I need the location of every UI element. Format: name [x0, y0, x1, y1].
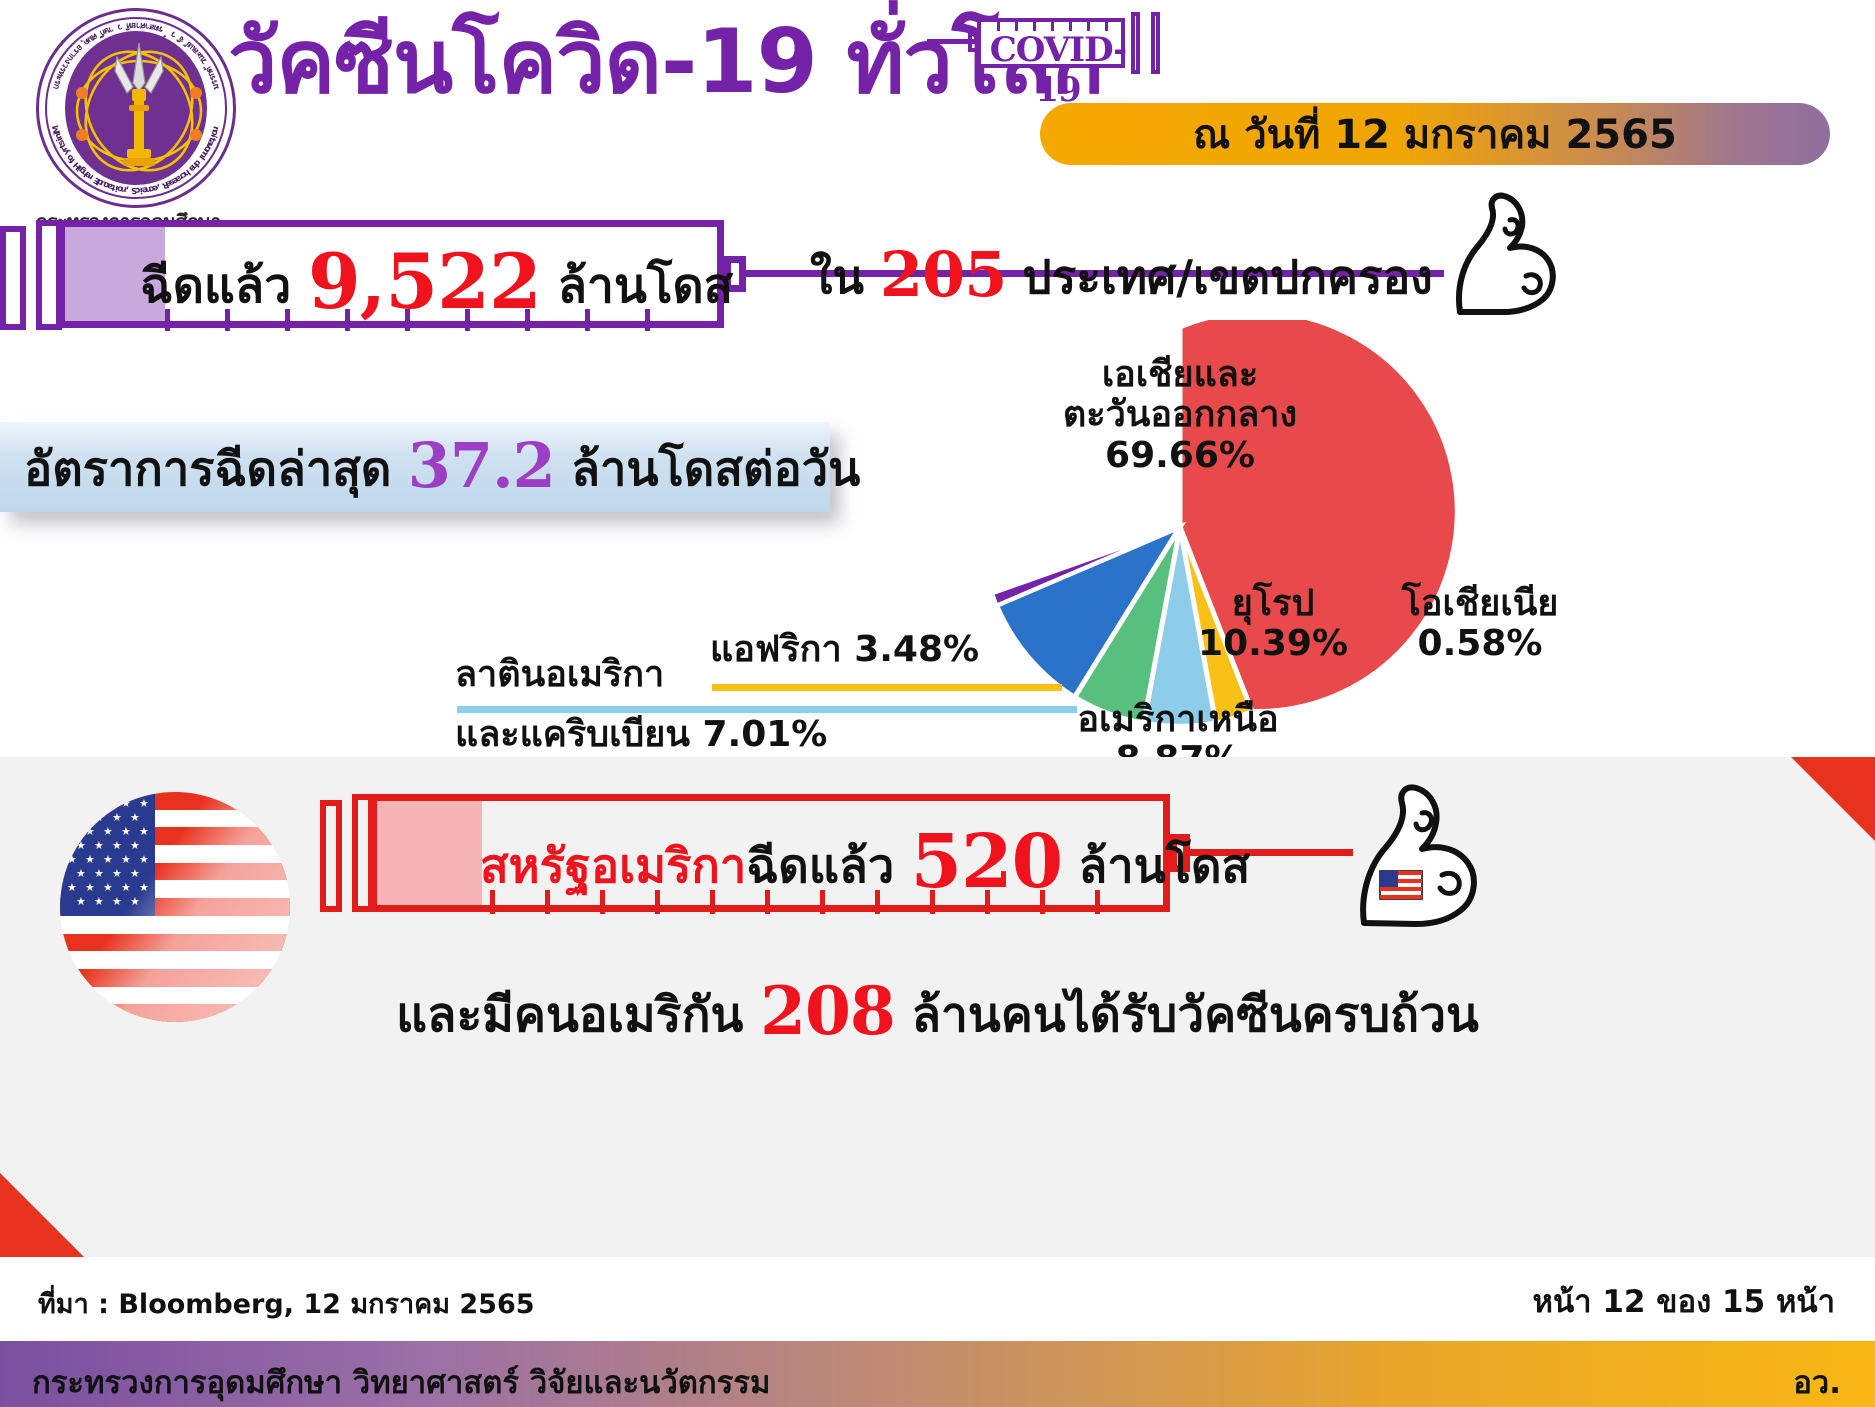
usa-doses-value: 520	[911, 819, 1062, 905]
rate-value: 37.2	[408, 429, 555, 502]
ministry-logo: กระทรวงการอุดมศึกษา วิทยาศาสตร์ วิจัยและ…	[36, 8, 251, 233]
countries-value: 205	[880, 238, 1006, 311]
rate-suffix: ล้านโดสต่อวัน	[571, 442, 860, 497]
usa-doses-prefix: ฉีดแล้ว	[746, 839, 894, 894]
footer-abbrev: อว.	[1793, 1357, 1841, 1407]
usa-fully-value: 208	[760, 972, 895, 1050]
usa-doses-text: สหรัฐอเมริกาฉีดแล้ว 520 ล้านโดส	[480, 828, 1140, 903]
pie-label-north-america-name: อเมริกาเหนือ	[1058, 700, 1298, 740]
pie-label-europe-name: ยุโรป	[1198, 584, 1348, 624]
global-doses-unit: ล้านโดส	[558, 258, 733, 314]
global-doses-text: ฉีดแล้ว 9,522 ล้านโดส	[140, 248, 710, 324]
pie-label-oceania-name: โอเชียเนีย	[1370, 584, 1590, 624]
footer-ministry-name: กระทรวงการอุดมศึกษา วิทยาศาสตร์ วิจัยและ…	[32, 1357, 770, 1407]
usa-doses-unit: ล้านโดส	[1078, 839, 1250, 894]
pie-label-latam-l1: ลาตินอเมริกา	[455, 655, 855, 695]
pie-label-oceania: โอเชียเนีย 0.58%	[1370, 584, 1590, 665]
date-badge-label: ณ วันที่ 12 มกราคม 2565	[1193, 102, 1677, 166]
countries-prefix: ใน	[810, 250, 864, 304]
covid-badge-label: COVID-19	[983, 30, 1133, 110]
usa-fully-vaccinated-line: และมีคนอเมริกัน 208 ล้านคนได้รับวัคซีนคร…	[0, 972, 1875, 1053]
usa-fully-prefix: และมีคนอเมริกัน	[396, 987, 743, 1043]
page-number: หน้า 12 ของ 15 หน้า	[1533, 1276, 1835, 1326]
flexed-arm-usa-icon	[1330, 775, 1490, 930]
daily-rate-panel: อัตราการฉีดล่าสุด 37.2 ล้านโดสต่อวัน	[0, 422, 830, 512]
daily-rate-text: อัตราการฉีดล่าสุด 37.2 ล้านโดสต่อวัน	[0, 429, 860, 506]
pie-label-latam-l2: และแคริบเบียน 7.01%	[455, 715, 875, 755]
pie-label-latam-value: และแคริบเบียน 7.01%	[455, 715, 875, 755]
usa-section: ★ ★ ★ ★ ★ ★ ★ ★ ★ ★ ★ ★ ★ ★ ★ ★ ★ ★ ★ ★	[0, 757, 1875, 1257]
ministry-seal-icon: กระทรวงการอุดมศึกษา วิทยาศาสตร์ วิจัยและ…	[36, 8, 236, 208]
pie-label-asia-l2: ตะวันออกกลาง	[1030, 395, 1330, 435]
source-row: ที่มา : Bloomberg, 12 มกราคม 2565 หน้า 1…	[0, 1262, 1875, 1344]
source-text: ที่มา : Bloomberg, 12 มกราคม 2565	[38, 1282, 535, 1325]
pie-label-asia: เอเชียและ ตะวันออกกลาง 69.66%	[1030, 355, 1330, 476]
usa-country-label: สหรัฐอเมริกา	[480, 839, 746, 894]
global-doses-prefix: ฉีดแล้ว	[140, 258, 291, 314]
seal-ring-text: กระทรวงการอุดมศึกษา วิทยาศาสตร์ วิจัยและ…	[36, 8, 236, 208]
pie-label-latam: ลาตินอเมริกา	[455, 655, 855, 695]
global-doses-value: 9,522	[308, 237, 541, 326]
pie-label-europe-pct: 10.39%	[1198, 624, 1348, 664]
corner-accent-bottom-left	[0, 1173, 84, 1257]
flexed-arm-icon	[1430, 190, 1560, 320]
pie-label-asia-pct: 69.66%	[1030, 436, 1330, 476]
footer-bar: กระทรวงการอุดมศึกษา วิทยาศาสตร์ วิจัยและ…	[0, 1341, 1875, 1407]
global-doses-syringe: ฉีดแล้ว 9,522 ล้านโดส	[0, 218, 790, 338]
pie-label-oceania-pct: 0.58%	[1370, 624, 1590, 664]
covid-syringe-icon: COVID-19	[965, 6, 1180, 78]
countries-suffix: ประเทศ/เขตปกครอง	[1022, 250, 1432, 304]
rate-prefix: อัตราการฉีดล่าสุด	[24, 442, 391, 497]
infographic-canvas: กระทรวงการอุดมศึกษา วิทยาศาสตร์ วิจัยและ…	[0, 0, 1875, 1407]
date-badge: ณ วันที่ 12 มกราคม 2565	[1040, 103, 1830, 165]
countries-count: ใน 205 ประเทศ/เขตปกครอง	[810, 238, 1433, 314]
corner-accent-top-right	[1791, 757, 1875, 841]
usa-fully-suffix: ล้านคนได้รับวัคซีนครบถ้วน	[912, 987, 1479, 1043]
pie-label-europe: ยุโรป 10.39%	[1198, 584, 1348, 665]
pie-label-asia-l1: เอเชียและ	[1030, 355, 1330, 395]
usa-doses-syringe: สหรัฐอเมริกาฉีดแล้ว 520 ล้านโดส	[320, 792, 1220, 922]
arm-flag-patch	[1380, 871, 1422, 899]
leader-line-latam	[457, 706, 1077, 713]
